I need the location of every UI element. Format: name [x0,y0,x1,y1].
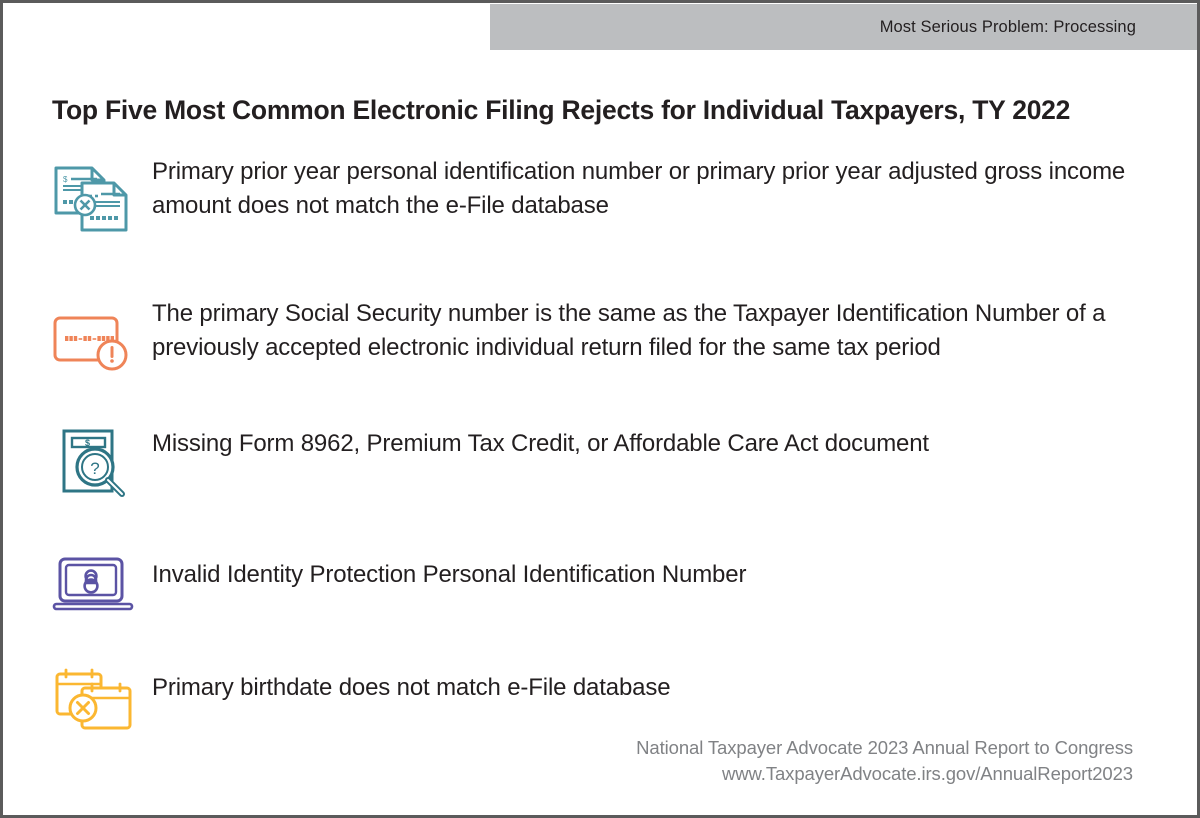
list-item-text: Missing Form 8962, Premium Tax Credit, o… [152,423,929,461]
list-item: The primary Social Security number is th… [52,297,1162,373]
page-title: Top Five Most Common Electronic Filing R… [52,95,1172,126]
list-item-icon-slot [52,297,152,373]
list-item: Invalid Identity Protection Personal Ide… [52,554,1162,615]
list-item-icon-slot: $ [52,155,152,235]
ssn-card-alert-icon [52,315,132,373]
footer: National Taxpayer Advocate 2023 Annual R… [636,735,1133,787]
svg-text:?: ? [90,459,99,478]
list-item-icon-slot: $ ? [52,423,152,501]
list-item-icon-slot [52,554,152,615]
svg-text:$: $ [63,175,68,184]
list-item-text: Invalid Identity Protection Personal Ide… [152,554,746,592]
list-item: Primary birthdate does not match e-File … [52,667,1162,733]
list-item-icon-slot [52,667,152,733]
list-item-text: Primary birthdate does not match e-File … [152,667,670,705]
calendar-reject-icon [52,667,136,733]
report-figure-page: Most Serious Problem: Processing Top Fiv… [0,0,1200,818]
two-documents-reject-icon: $ [52,165,130,235]
svg-text:$: $ [85,438,90,448]
laptop-lock-icon [52,555,136,615]
list-item-text: Primary prior year personal identificati… [152,155,1162,223]
reject-list: $ [52,155,1162,733]
list-item-text: The primary Social Security number is th… [152,297,1162,365]
list-item: $ ? Missing Form 8962, Premium Tax Credi… [52,423,1162,501]
list-item: $ [52,155,1162,235]
header-band: Most Serious Problem: Processing [490,4,1200,50]
footer-line-url: www.TaxpayerAdvocate.irs.gov/AnnualRepor… [636,761,1133,787]
footer-line-report: National Taxpayer Advocate 2023 Annual R… [636,735,1133,761]
document-magnifier-question-icon: $ ? [52,427,132,501]
header-band-label: Most Serious Problem: Processing [880,18,1136,37]
